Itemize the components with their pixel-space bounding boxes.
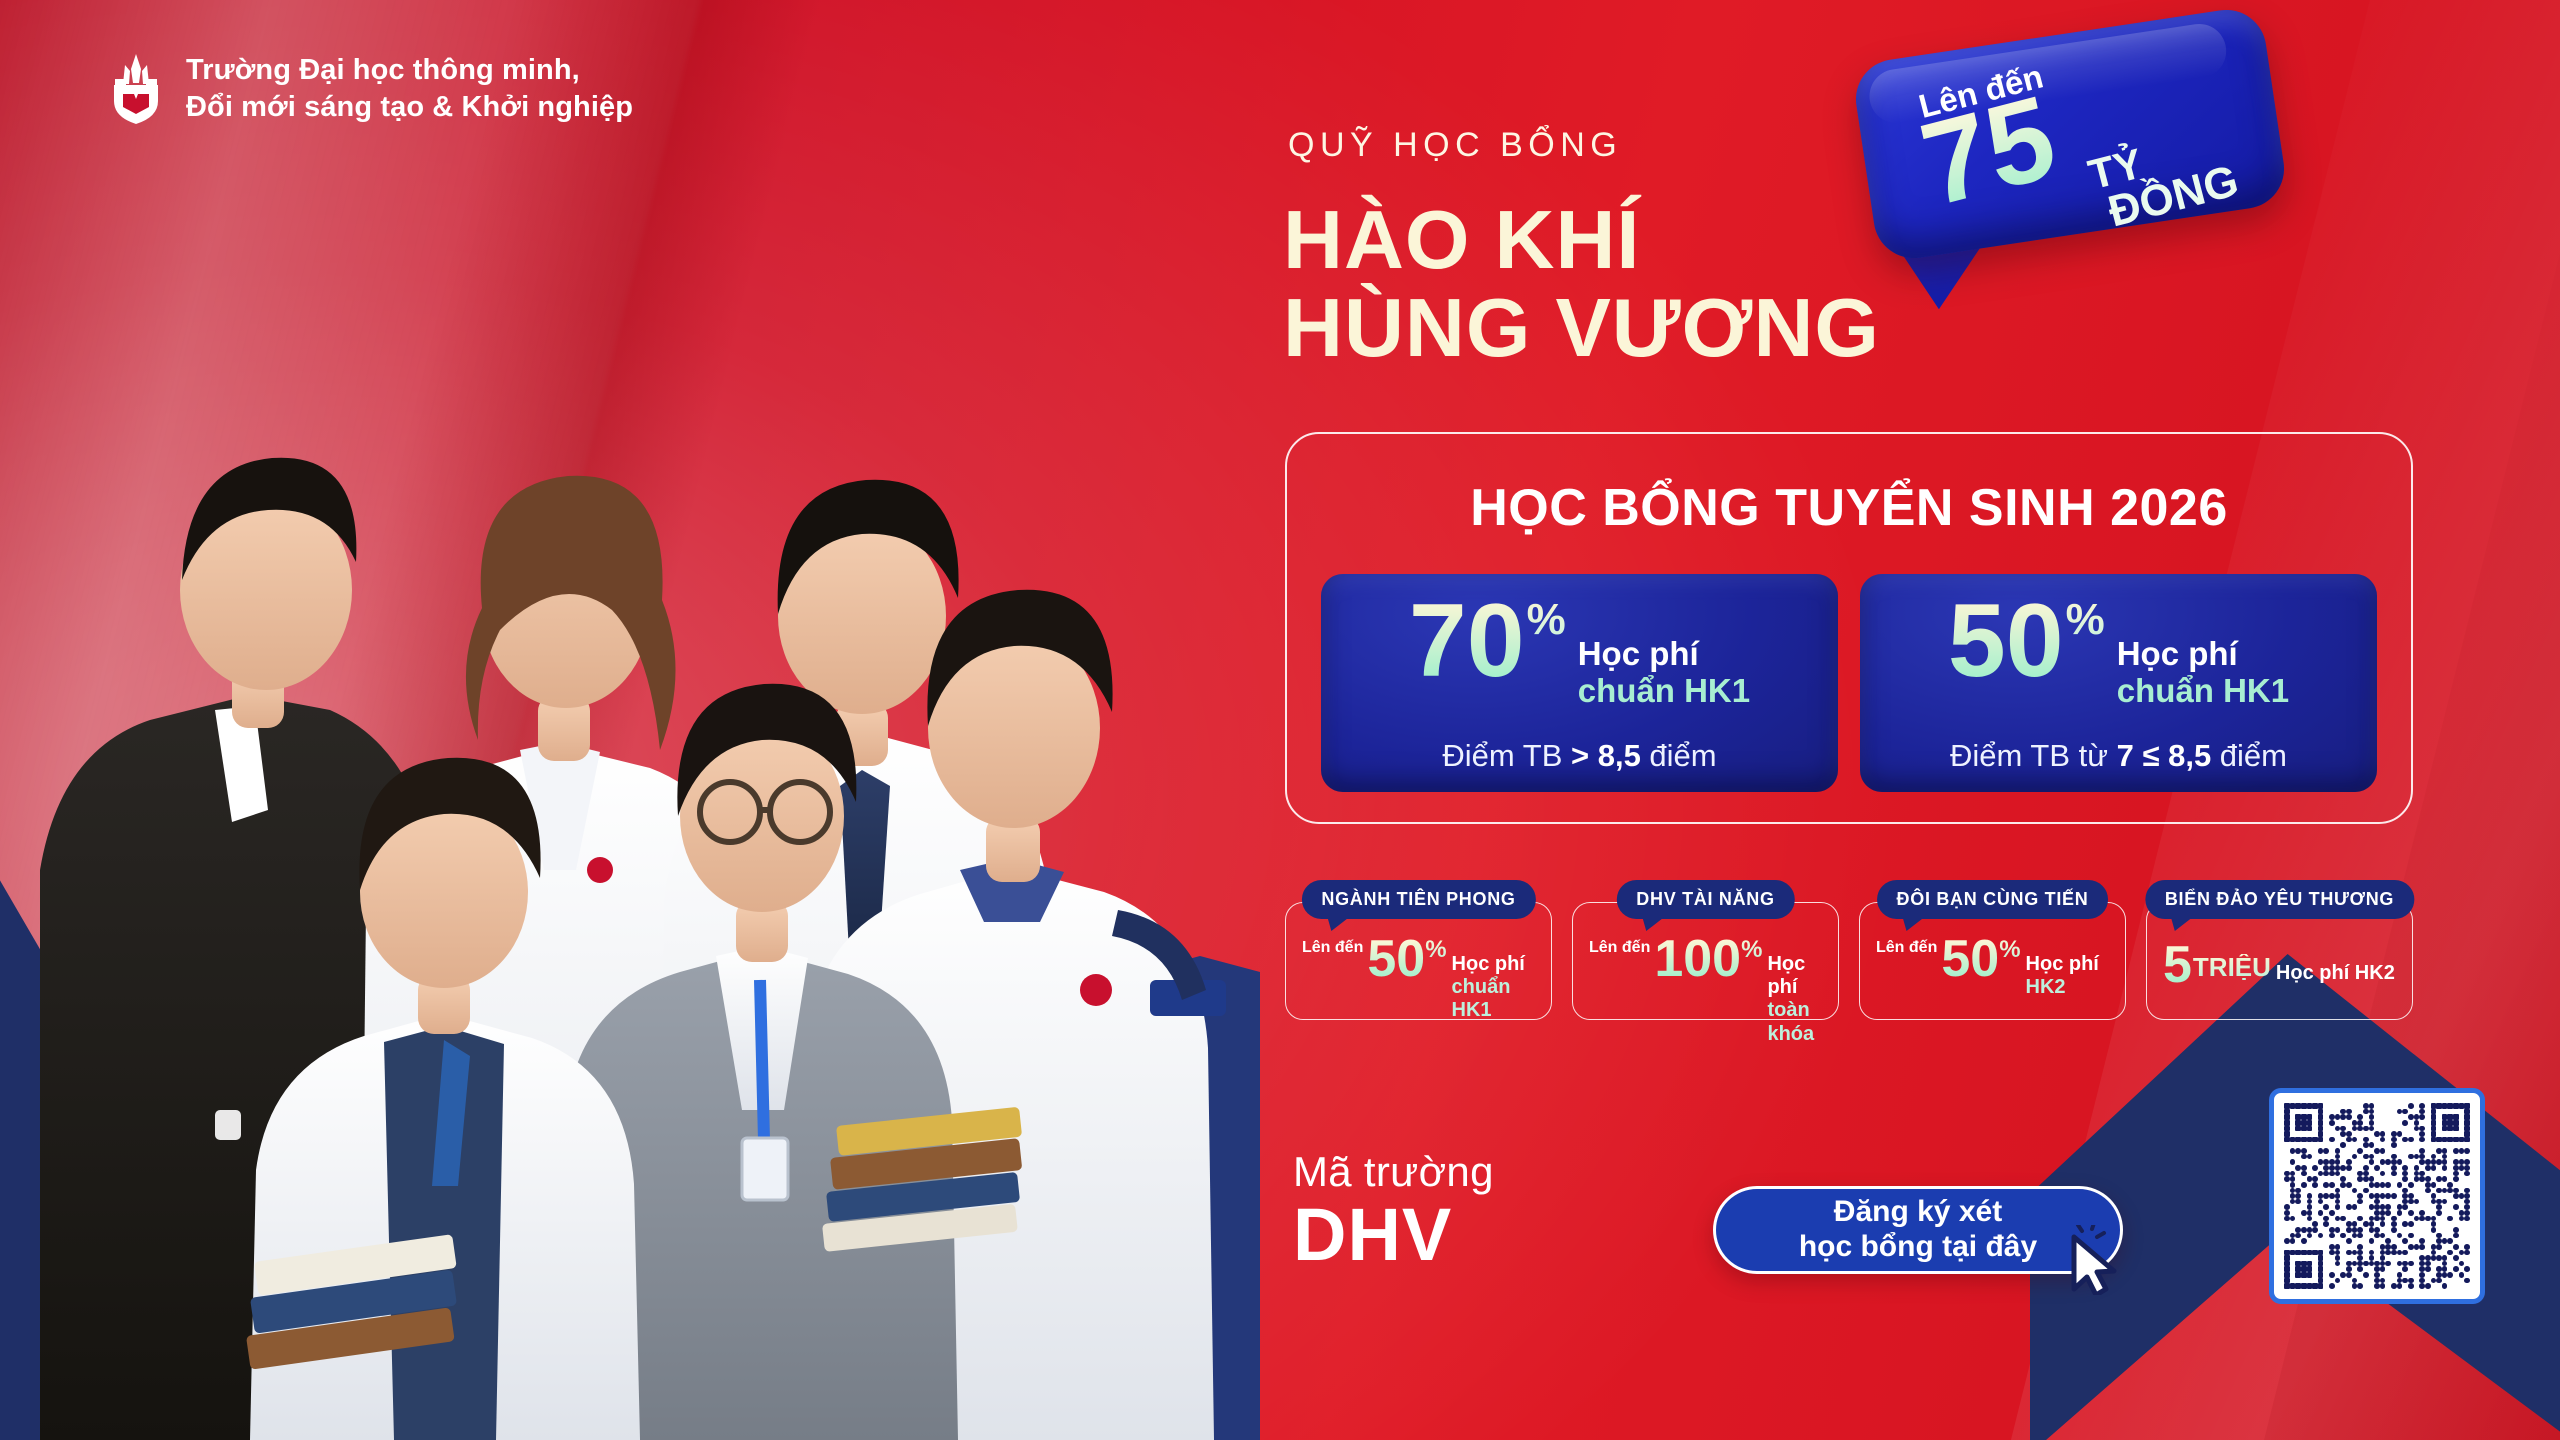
tier-card[interactable]: 70 % Học phí chuẩn HK1 Điểm TB > 8,5 điể… (1321, 574, 1838, 792)
mini-scholarship-card[interactable]: DHV TÀI NĂNG Lên đến 100 % Học phí toàn … (1572, 902, 1839, 1020)
mini-prefix: Lên đến (1589, 939, 1650, 957)
tier-card[interactable]: 50 % Học phí chuẩn HK1 Điểm TB từ 7 ≤ 8,… (1860, 574, 2377, 792)
mini-card-body: 5 TRIỆU Học phí HK2 (2163, 943, 2402, 989)
mini-value: 100 (1654, 937, 1741, 983)
school-code-value: DHV (1293, 1192, 1494, 1277)
mini-text-line2: toàn khóa (1767, 999, 1828, 1045)
shield-crown-book-icon (108, 53, 164, 125)
qr-code[interactable] (2269, 1088, 2485, 1304)
tier-value: 50 (1948, 594, 2064, 690)
mini-scholarship-card[interactable]: NGÀNH TIÊN PHONG Lên đến 50 % Học phí ch… (1285, 902, 1552, 1020)
mini-prefix: Lên đến (1302, 939, 1363, 957)
mouse-pointer-click-icon (2064, 1225, 2120, 1295)
brand-lockup: Trường Đại học thông minh, Đổi mới sáng … (108, 52, 633, 126)
students-photo-collage (0, 110, 1260, 1440)
mini-text-line2: HK2 (2026, 976, 2099, 999)
held-books (822, 1107, 1022, 1252)
amount-badge: Lên đến 75 TỶ ĐỒNG (1850, 5, 2289, 264)
mini-card-title: ĐÔI BẠN CÙNG TIẾN (1877, 880, 2109, 919)
mini-scholarship-card[interactable]: ĐÔI BẠN CÙNG TIẾN Lên đến 50 % Học phí H… (1859, 902, 2126, 1020)
tier-condition: Điểm TB > 8,5 điểm (1321, 738, 1838, 774)
mini-text-line1: Học phí (1767, 953, 1828, 999)
mini-unit: % (1999, 938, 2020, 962)
mini-unit: % (1425, 938, 1446, 962)
tier-condition-prefix: Điểm TB (1442, 738, 1571, 773)
tier-label-line1: Học phí (2117, 636, 2289, 673)
tier-list: 70 % Học phí chuẩn HK1 Điểm TB > 8,5 điể… (1321, 574, 2377, 792)
school-code-label: Mã trường (1293, 1148, 1494, 1196)
tier-main-row: 70 % Học phí chuẩn HK1 (1321, 594, 1838, 710)
tier-label-line1: Học phí (1578, 636, 1750, 673)
tier-main-row: 50 % Học phí chuẩn HK1 (1860, 594, 2377, 710)
school-code-block: Mã trường DHV (1293, 1148, 1494, 1277)
mini-card-body: Lên đến 50 % Học phí HK2 (1876, 937, 2115, 999)
right-content-column: QUỸ HỌC BỔNG HÀO KHÍ HÙNG VƯƠNG Lên đến … (1283, 0, 2473, 1440)
mini-text-line1: Học phí (1452, 953, 1541, 976)
mini-value: 50 (1367, 937, 1425, 983)
tier-condition-prefix: Điểm TB từ (1950, 738, 2117, 773)
special-scholarship-row: NGÀNH TIÊN PHONG Lên đến 50 % Học phí ch… (1285, 880, 2413, 1020)
mini-card-title: DHV TÀI NĂNG (1616, 880, 1794, 919)
mini-scholarship-card[interactable]: BIỂN ĐẢO YÊU THƯƠNG 5 TRIỆU Học phí HK2 (2146, 902, 2413, 1020)
admission-scholarship-panel: HỌC BỔNG TUYỂN SINH 2026 70 % Học phí ch… (1285, 432, 2413, 824)
badge-unit: TỶ ĐỒNG (2075, 83, 2252, 273)
brand-name: Trường Đại học thông minh, Đổi mới sáng … (186, 52, 633, 126)
mini-text-line1: Học phí HK2 (2276, 962, 2395, 985)
mini-text: Học phí HK2 (2276, 962, 2395, 985)
mini-value: 5 (2163, 943, 2192, 989)
tier-condition: Điểm TB từ 7 ≤ 8,5 điểm (1860, 738, 2377, 774)
tier-condition-value: 7 ≤ 8,5 (2117, 738, 2212, 773)
mini-unit: % (1741, 938, 1762, 962)
register-scholarship-label: Đăng ký xét học bổng tại đây (1799, 1195, 2037, 1265)
mini-value: 50 (1941, 937, 1999, 983)
mini-prefix: Lên đến (1876, 939, 1937, 957)
tier-label-line2: chuẩn HK1 (1578, 673, 1750, 710)
tier-value: 70 (1409, 594, 1525, 690)
register-scholarship-button[interactable]: Đăng ký xét học bổng tại đây (1713, 1186, 2123, 1274)
tier-percent: % (1527, 598, 1566, 642)
tier-label: Học phí chuẩn HK1 (2117, 636, 2289, 710)
students-illustration (0, 110, 1260, 1440)
mini-unit: TRIỆU (2193, 954, 2271, 980)
panel-title: HỌC BỔNG TUYỂN SINH 2026 (1287, 478, 2411, 538)
mini-card-body: Lên đến 50 % Học phí chuẩn HK1 (1302, 937, 1541, 1023)
mini-text-line1: Học phí (2026, 953, 2099, 976)
mini-text: Học phí toàn khóa (1767, 953, 1828, 1046)
badge-amount: 75 (1912, 77, 2065, 225)
tier-label: Học phí chuẩn HK1 (1578, 636, 1750, 710)
qr-code-modules (2284, 1103, 2470, 1289)
tier-label-line2: chuẩn HK1 (2117, 673, 2289, 710)
mini-card-title: BIỂN ĐẢO YÊU THƯƠNG (2145, 880, 2414, 919)
badge-content: Lên đến 75 TỶ ĐỒNG (1850, 5, 2289, 264)
tier-percent: % (2066, 598, 2105, 642)
mini-card-title: NGÀNH TIÊN PHONG (1301, 880, 1535, 919)
mini-text-line2: chuẩn HK1 (1452, 976, 1541, 1022)
mini-text: Học phí HK2 (2026, 953, 2099, 999)
mini-text: Học phí chuẩn HK1 (1452, 953, 1541, 1023)
tier-condition-suffix: điểm (2211, 738, 2287, 773)
mini-card-body: Lên đến 100 % Học phí toàn khóa (1589, 937, 1828, 1046)
scholarship-banner: Trường Đại học thông minh, Đổi mới sáng … (0, 0, 2560, 1440)
hero-headline: HÀO KHÍ HÙNG VƯƠNG (1283, 196, 1923, 372)
tier-condition-value: > 8,5 (1571, 738, 1641, 773)
hero-eyebrow: QUỸ HỌC BỔNG (1288, 126, 1622, 165)
tier-condition-suffix: điểm (1641, 738, 1717, 773)
